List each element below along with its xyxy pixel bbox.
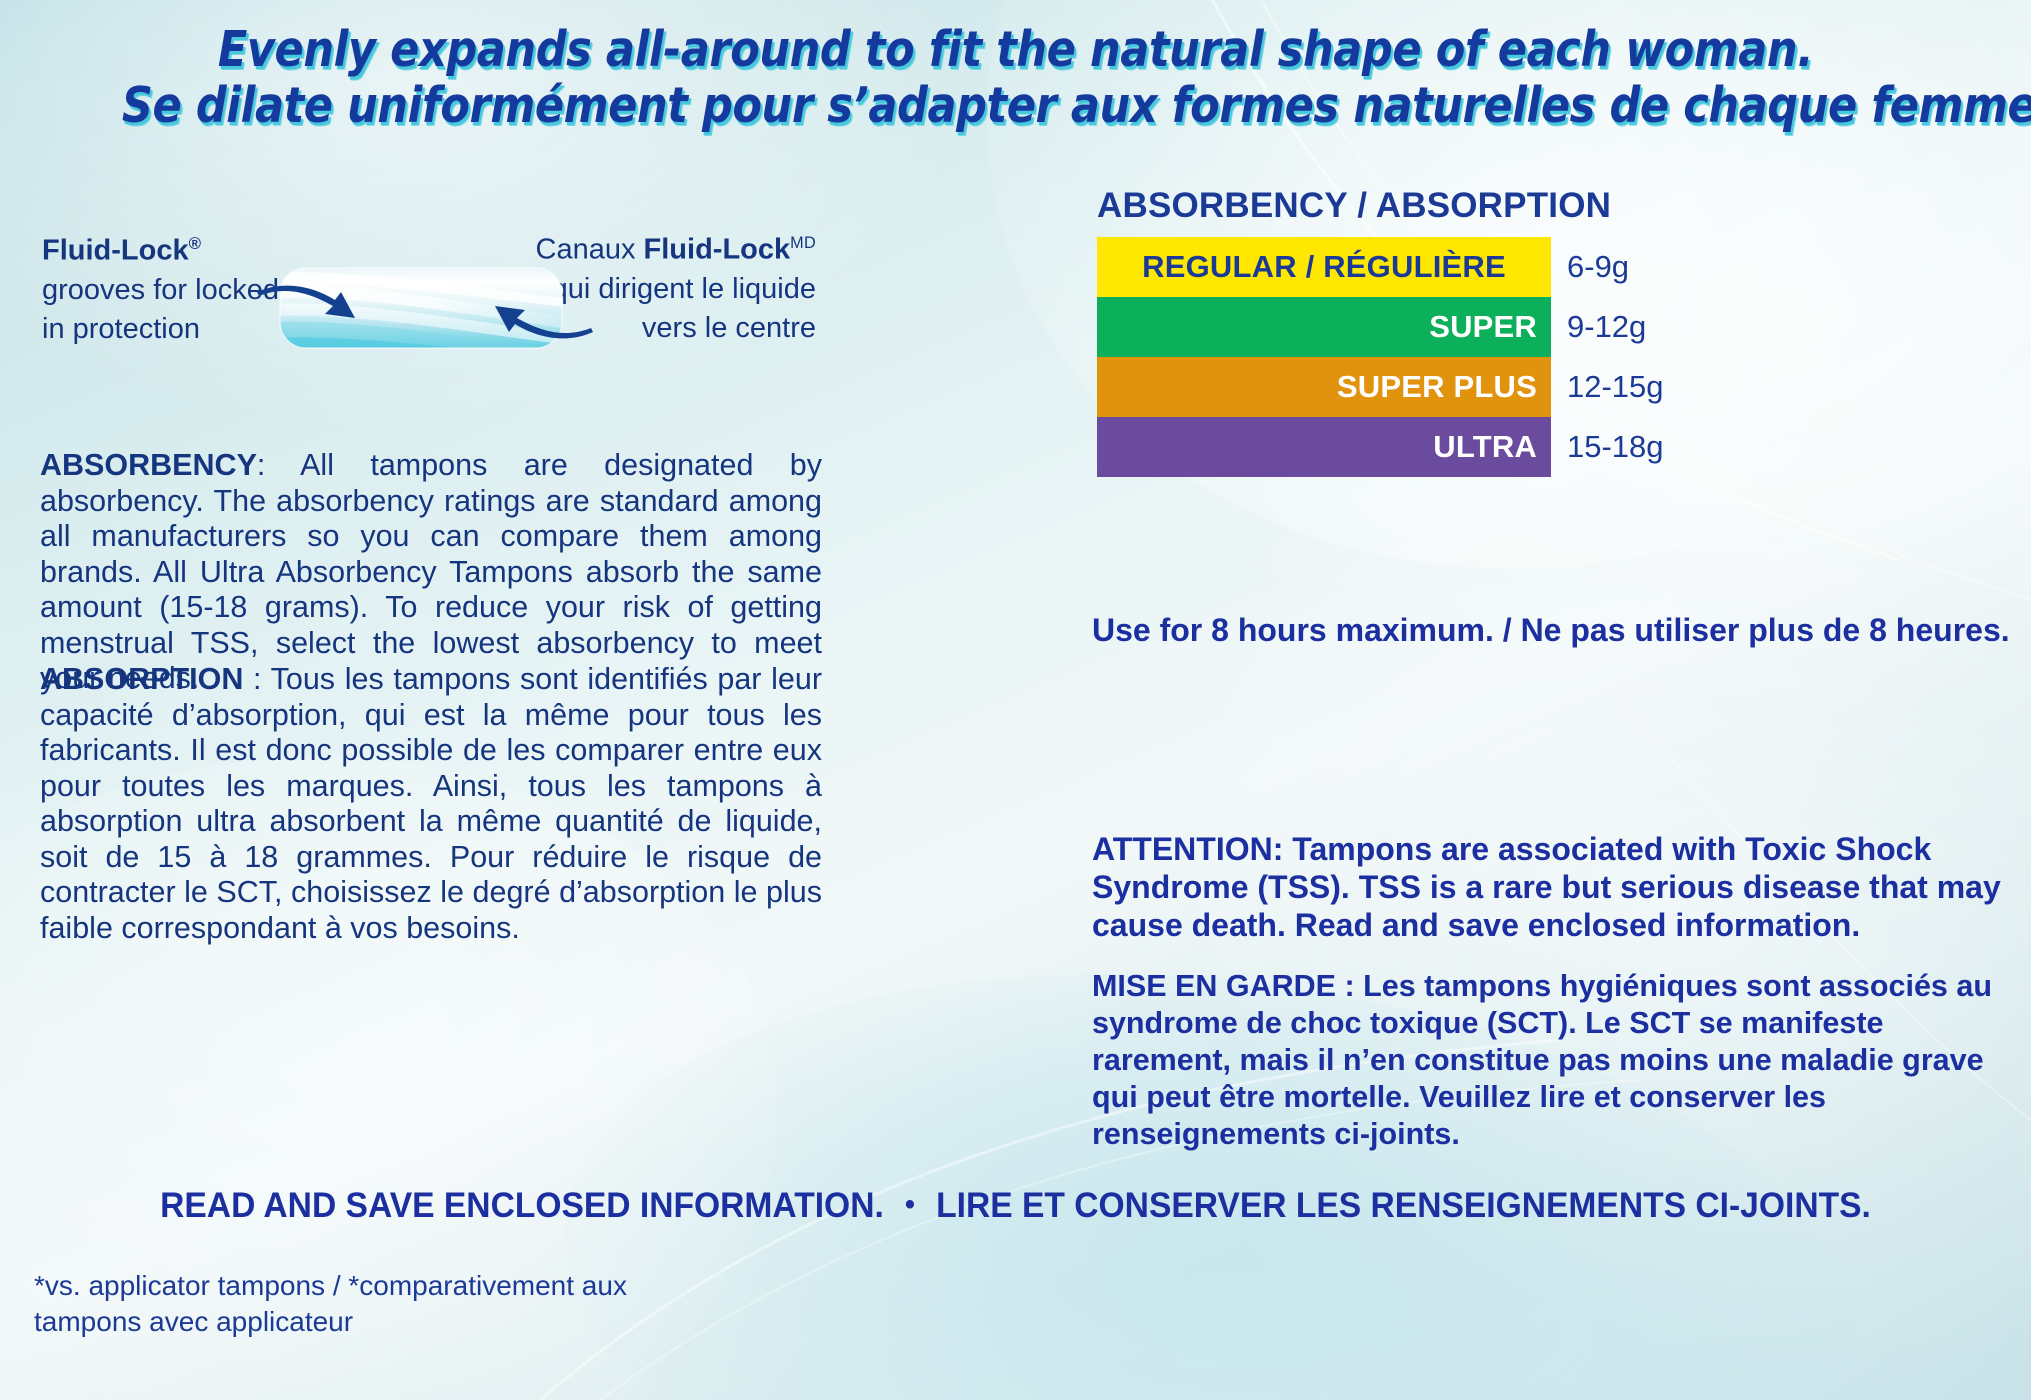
flow-arrows <box>255 262 595 362</box>
headline-line-en: Evenly expands all-around to fit the nat… <box>122 22 1909 78</box>
absorbency-grams-regular: 6-9g <box>1551 249 1629 285</box>
absorbency-grams-ultra: 15-18g <box>1551 429 1664 465</box>
absorbency-grams-super-plus: 12-15g <box>1551 369 1664 405</box>
paragraph-absorption-fr: ABSORPTION : Tous les tampons sont ident… <box>40 662 822 946</box>
absorbency-grams-super: 9-12g <box>1551 309 1646 345</box>
banner-text-fr: LIRE ET CONSERVER LES RENSEIGNEMENTS CI-… <box>936 1186 1871 1225</box>
warning-mise-en-garde-fr: MISE EN GARDE : Les tampons hygiéniques … <box>1092 968 2022 1153</box>
absorbency-band-super-plus: SUPER PLUS <box>1097 357 1551 417</box>
headline-line-fr: Se dilate uniformément pour s’adapter au… <box>122 78 1909 134</box>
absorbency-table: REGULAR / RÉGULIÈRE 6-9g SUPER 9-12g SUP… <box>1097 237 1737 477</box>
read-and-save-banner: READ AND SAVE ENCLOSED INFORMATION.•LIRE… <box>41 1186 1991 1226</box>
product-packaging-panel: Evenly expands all-around to fit the nat… <box>0 0 2031 1400</box>
paragraph-en-body: : All tampons are designated by absorben… <box>40 448 822 695</box>
absorbency-band-regular: REGULAR / RÉGULIÈRE <box>1097 237 1551 297</box>
paragraph-absorbency-en: ABSORBENCY: All tampons are designated b… <box>40 448 822 697</box>
absorbency-band-super: SUPER <box>1097 297 1551 357</box>
registered-trademark-icon: ® <box>189 234 201 253</box>
banner-text-en: READ AND SAVE ENCLOSED INFORMATION. <box>160 1186 884 1225</box>
paragraph-fr-lead: ABSORPTION <box>40 662 243 696</box>
table-row: REGULAR / RÉGULIÈRE 6-9g <box>1097 237 1737 297</box>
headline: Evenly expands all-around to fit the nat… <box>122 22 1909 134</box>
paragraph-fr-body: : Tous les tampons sont identifiés par l… <box>40 662 822 945</box>
footnote-comparison: *vs. applicator tampons / *comparativeme… <box>34 1268 734 1340</box>
marque-deposee-icon: MD <box>790 234 816 252</box>
paragraph-en-lead: ABSORBENCY <box>40 448 257 482</box>
callout-left-brand: Fluid-Lock <box>42 235 189 267</box>
table-row: SUPER 9-12g <box>1097 297 1737 357</box>
table-row: ULTRA 15-18g <box>1097 417 1737 477</box>
table-row: SUPER PLUS 12-15g <box>1097 357 1737 417</box>
usage-duration-note: Use for 8 hours maximum. / Ne pas utilis… <box>1092 612 2031 649</box>
callout-left-rest: grooves for locked in protection <box>42 274 279 345</box>
absorbency-table-title: ABSORBENCY / ABSORPTION <box>1097 186 1611 226</box>
warning-attention-en: ATTENTION: Tampons are associated with T… <box>1092 830 2022 944</box>
absorbency-band-ultra: ULTRA <box>1097 417 1551 477</box>
callout-right-brand: Fluid-Lock <box>644 234 791 266</box>
bullet-separator-icon: • <box>884 1188 936 1221</box>
